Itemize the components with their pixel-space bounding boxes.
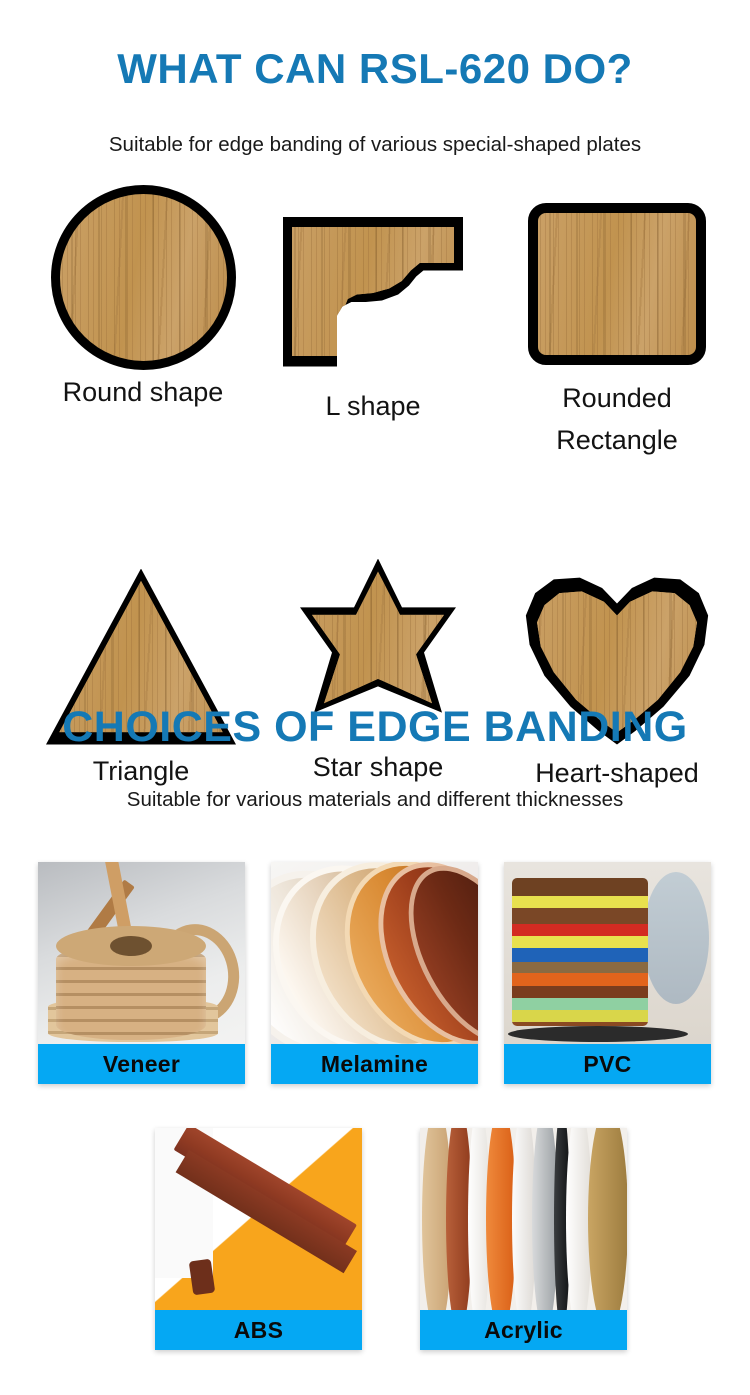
melamine-coils-photo: [271, 862, 478, 1044]
abs-strip-photo: [155, 1128, 362, 1310]
shape-label-round: Round shape: [18, 377, 268, 409]
shape-row-2: Triangle Star shape Heart-shaped: [0, 465, 750, 695]
shape-label-heart: Heart-shaped: [492, 758, 742, 790]
material-label-bar-veneer: Veneer: [38, 1044, 245, 1084]
shape-gallery: Round shape L shape Rounded Rectangle: [0, 180, 750, 695]
page-title-choices-of-edge-banding: CHOICES OF EDGE BANDING: [0, 706, 750, 749]
shape-label-l: L shape: [248, 391, 498, 423]
subtitle-special-shaped-plates: Suitable for edge banding of various spe…: [0, 133, 750, 157]
round-shape-icon: [51, 185, 236, 370]
l-shape-icon: [283, 217, 463, 367]
material-label-bar-pvc: PVC: [504, 1044, 711, 1084]
material-card-abs[interactable]: ABS: [155, 1128, 362, 1350]
shape-item-triangle: Triangle: [16, 559, 266, 788]
shape-label-triangle: Triangle: [16, 756, 266, 788]
infographic-page: WHAT CAN RSL-620 DO? Suitable for edge b…: [0, 0, 750, 1395]
subtitle-materials-thicknesses: Suitable for various materials and diffe…: [0, 788, 750, 812]
shape-label-star: Star shape: [253, 752, 503, 784]
shape-item-rounded-rectangle: Rounded Rectangle: [492, 186, 742, 457]
round-shape-art: [18, 180, 268, 375]
material-label-bar-abs: ABS: [155, 1310, 362, 1350]
material-card-pvc[interactable]: PVC: [504, 862, 711, 1084]
shape-label-rounded-rectangle-line1: Rounded: [492, 383, 742, 415]
pvc-coils-photo: [504, 862, 711, 1044]
material-label-melamine: Melamine: [321, 1051, 428, 1078]
rounded-rectangle-icon: [528, 203, 706, 365]
material-label-acrylic: Acrylic: [484, 1317, 563, 1344]
veneer-coils-photo: [38, 862, 245, 1044]
material-label-bar-acrylic: Acrylic: [420, 1310, 627, 1350]
material-label-pvc: PVC: [583, 1051, 631, 1078]
material-card-veneer[interactable]: Veneer: [38, 862, 245, 1084]
material-label-veneer: Veneer: [103, 1051, 180, 1078]
material-label-bar-melamine: Melamine: [271, 1044, 478, 1084]
page-title-what-can-do: WHAT CAN RSL-620 DO?: [0, 48, 750, 90]
material-label-abs: ABS: [234, 1317, 283, 1344]
shape-item-heart: Heart-shaped: [492, 561, 742, 790]
acrylic-coils-photo: [420, 1128, 627, 1310]
material-card-acrylic[interactable]: Acrylic: [420, 1128, 627, 1350]
shape-item-round: Round shape: [18, 180, 268, 409]
shape-row-1: Round shape L shape Rounded Rectangle: [0, 180, 750, 465]
shape-label-rounded-rectangle-line2: Rectangle: [492, 425, 742, 457]
l-shape-art: [248, 194, 498, 389]
rounded-rectangle-art: [492, 186, 742, 381]
shape-item-l: L shape: [248, 194, 498, 423]
material-card-melamine[interactable]: Melamine: [271, 862, 478, 1084]
